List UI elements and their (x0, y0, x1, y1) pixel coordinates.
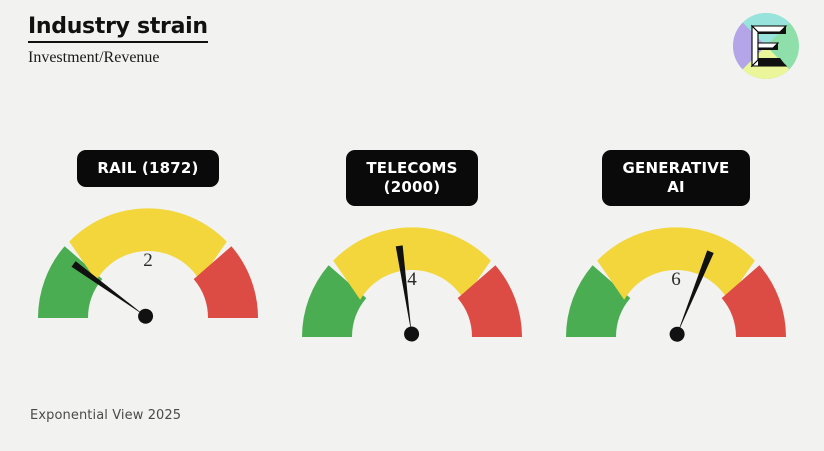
gauge-row: RAIL (1872) 2 TELECOMS (2000) (0, 150, 824, 360)
page-title: Industry strain (28, 14, 208, 43)
gauge-card-telecoms: TELECOMS (2000) 4 (284, 150, 540, 360)
gauge-dial-rail: 2 (28, 198, 268, 324)
gauge-card-generative-ai: GENERATIVE AI 6 (548, 150, 804, 360)
logo-svg (732, 12, 800, 80)
gauge-label-generative-ai: GENERATIVE AI (602, 150, 749, 206)
gauge-dial-telecoms: 4 (292, 217, 532, 343)
exponential-view-logo (732, 12, 800, 80)
gauge-label-telecoms: TELECOMS (2000) (346, 150, 477, 206)
gauge-dial-generative-ai: 6 (556, 217, 796, 343)
gauge-svg-generative-ai (556, 217, 796, 343)
page-subtitle: Investment/Revenue (28, 49, 208, 67)
gauge-band-yellow (597, 228, 755, 300)
gauge-band-yellow (69, 209, 227, 281)
footer-source: Exponential View 2025 (30, 408, 181, 423)
gauge-svg-telecoms (292, 217, 532, 343)
gauge-card-rail: RAIL (1872) 2 (20, 150, 276, 360)
gauge-svg-rail (28, 198, 268, 324)
header: Industry strain Investment/Revenue (28, 14, 208, 67)
gauge-band-yellow (333, 228, 491, 300)
gauge-label-rail: RAIL (1872) (77, 150, 218, 187)
